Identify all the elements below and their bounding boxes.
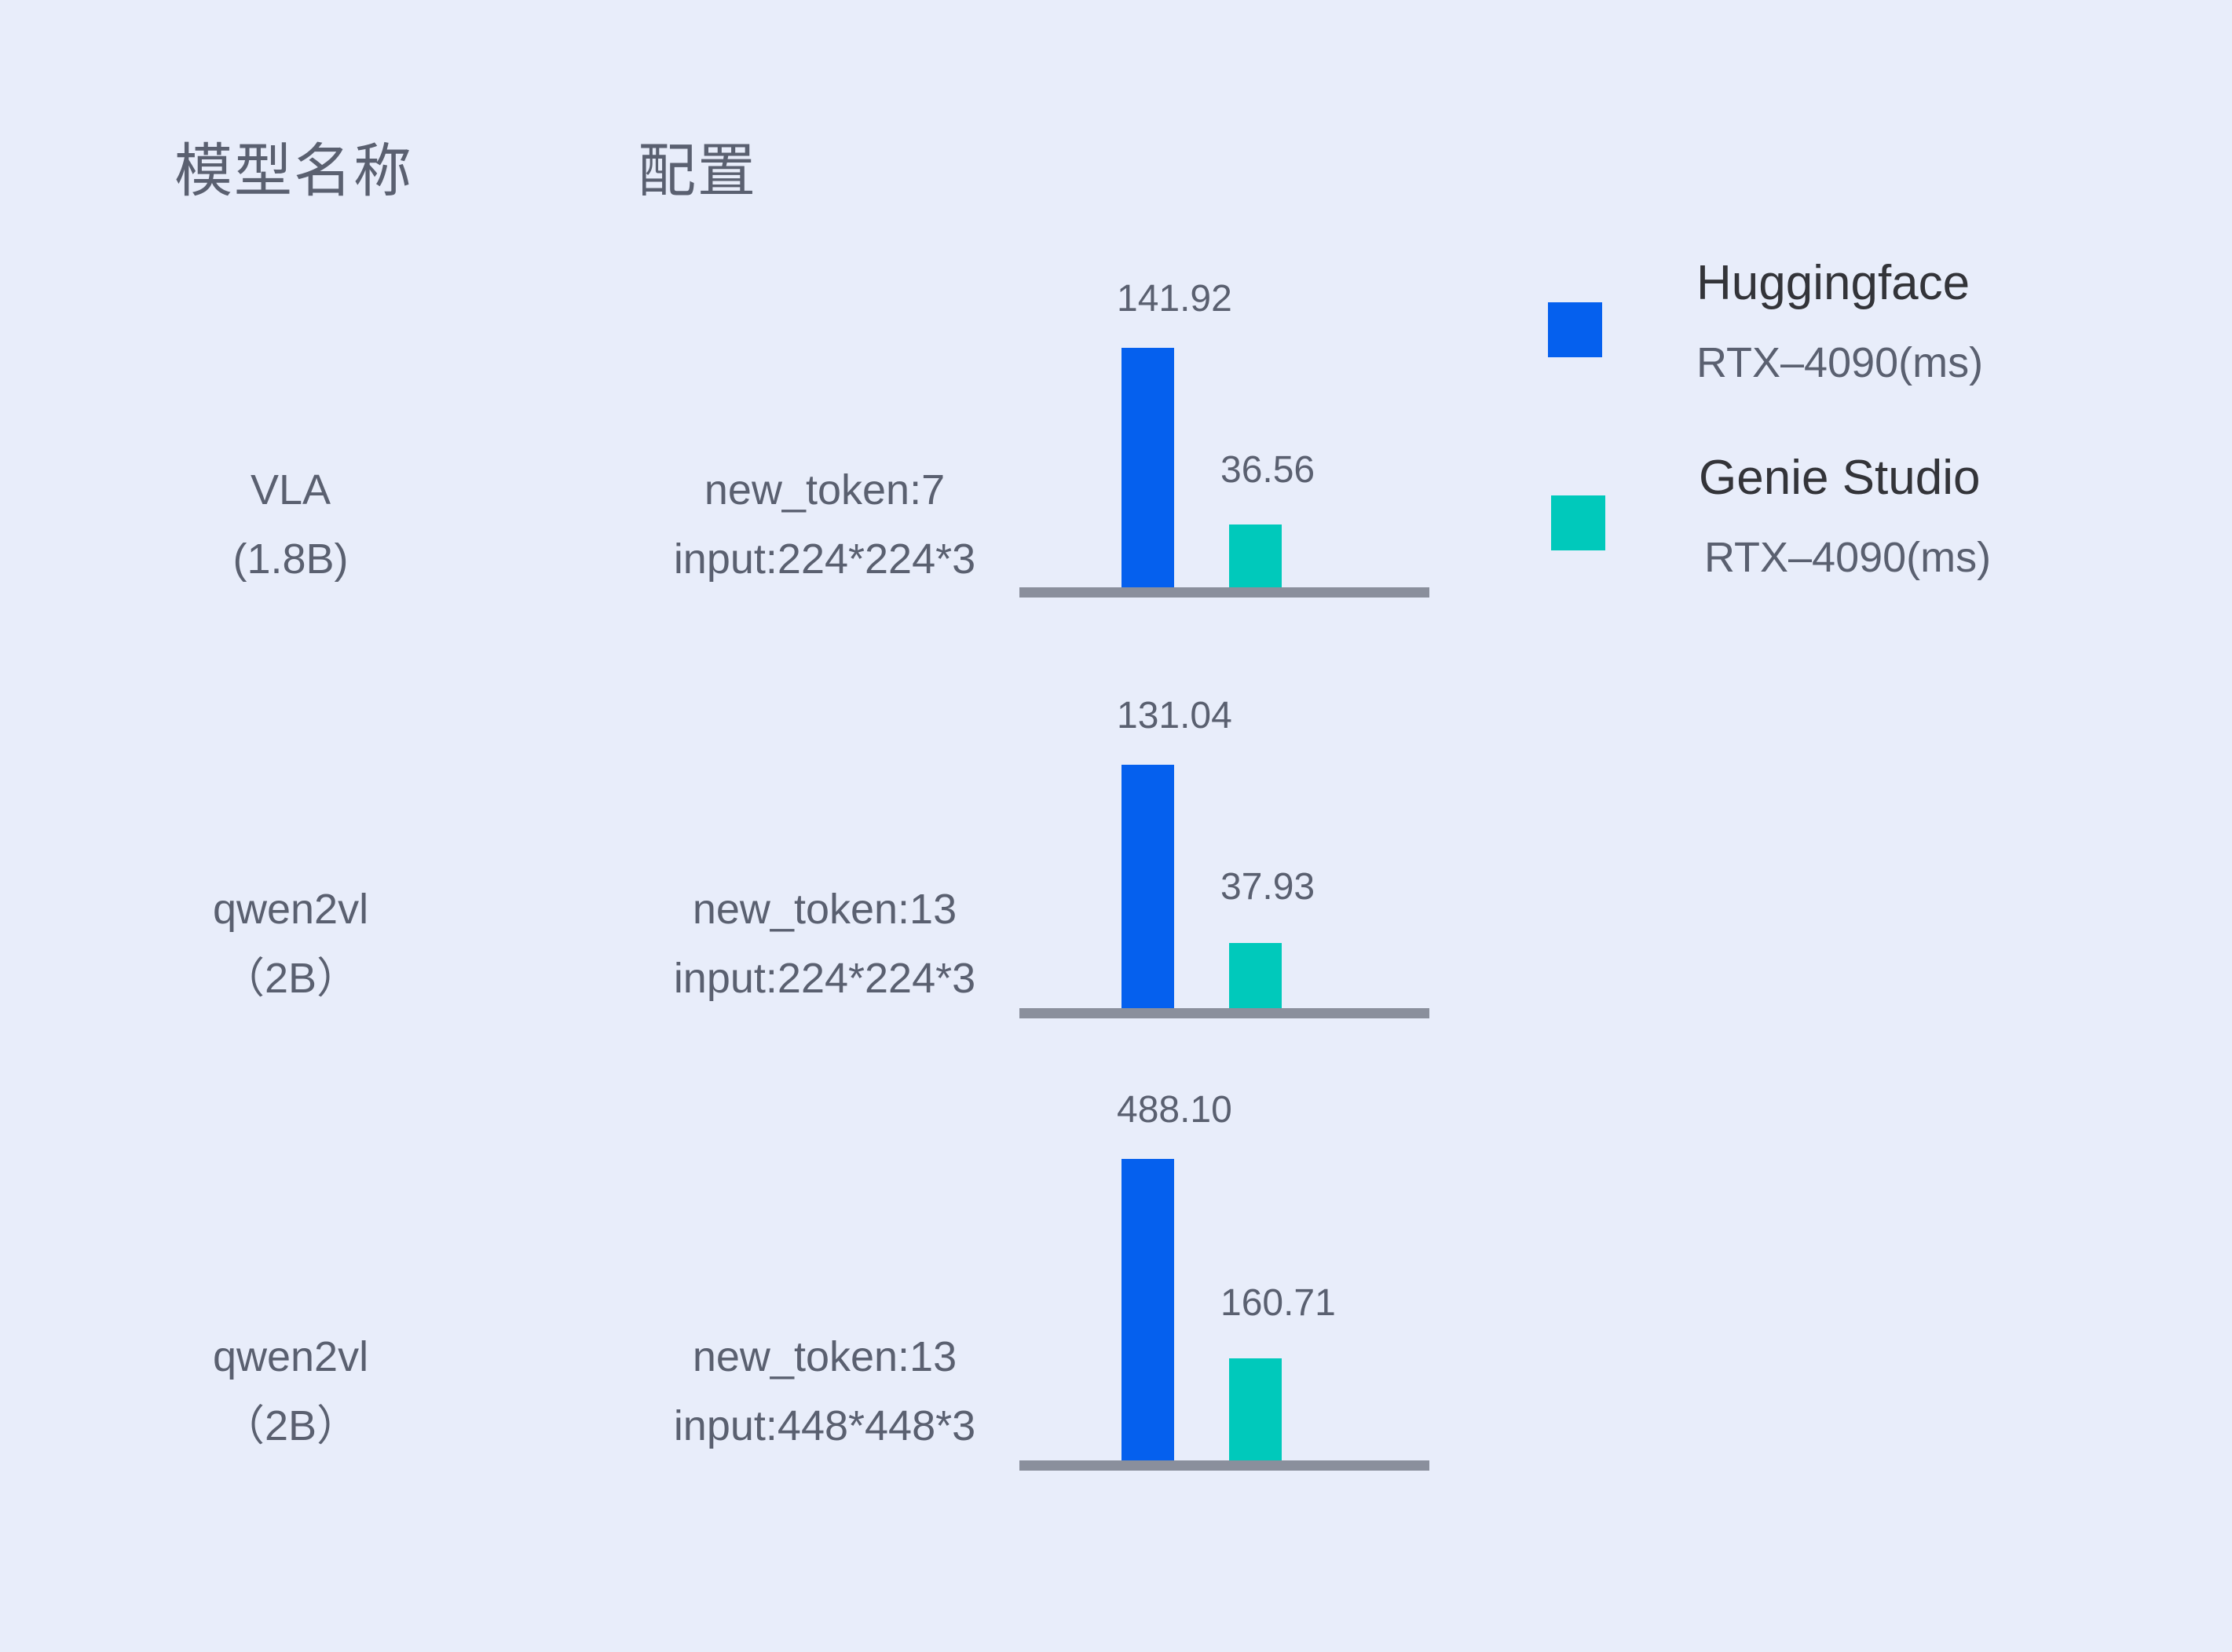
bar-huggingface[interactable]: [1121, 348, 1174, 587]
model-name-line1: qwen2vl: [134, 875, 448, 944]
bar-panel: 141.92 36.56: [1019, 338, 1429, 620]
panel-baseline: [1019, 587, 1429, 598]
model-name-line2: (1.8B): [134, 524, 448, 594]
model-name-line2: （2B）: [134, 1391, 448, 1460]
column-header-model-name: 模型名称: [174, 124, 413, 208]
bar-value-label-genie-studio: 37.93: [1220, 868, 1315, 906]
bar-huggingface[interactable]: [1121, 1159, 1174, 1465]
panel-baseline: [1019, 1460, 1429, 1471]
column-header-config: 配置: [638, 124, 757, 208]
bar-genie-studio[interactable]: [1229, 943, 1282, 1008]
model-name-line1: qwen2vl: [134, 1322, 448, 1391]
legend-title: Genie Studio: [1699, 454, 1980, 503]
cell-model-name: VLA (1.8B): [134, 455, 448, 594]
legend-subtitle: RTX–4090(ms): [1704, 536, 1991, 579]
legend-title: Huggingface: [1696, 259, 1970, 308]
model-name-line1: VLA: [134, 455, 448, 524]
bar-panel: 488.10 160.71: [1019, 1179, 1429, 1493]
legend-subtitle: RTX–4090(ms): [1696, 342, 1983, 384]
cell-model-name: qwen2vl （2B）: [134, 875, 448, 1013]
model-name-line2: （2B）: [134, 944, 448, 1013]
chart-canvas: 模型名称 配置 VLA (1.8B) new_token:7 input:224…: [0, 0, 2232, 1652]
bar-value-label-huggingface: 141.92: [1117, 280, 1232, 318]
bar-value-label-huggingface: 131.04: [1117, 697, 1232, 735]
bar-huggingface[interactable]: [1121, 765, 1174, 1008]
bar-genie-studio[interactable]: [1229, 524, 1282, 587]
genie-studio-color-swatch: [1551, 495, 1605, 550]
panel-baseline: [1019, 1008, 1429, 1018]
bar-genie-studio[interactable]: [1229, 1358, 1282, 1460]
table-row: qwen2vl （2B） new_token:13 input:224*224*…: [0, 758, 2232, 1041]
bar-value-label-huggingface: 488.10: [1117, 1091, 1232, 1129]
bar-value-label-genie-studio: 160.71: [1220, 1285, 1336, 1322]
bar-panel: 131.04 37.93: [1019, 758, 1429, 1041]
cell-model-name: qwen2vl （2B）: [134, 1322, 448, 1460]
table-row: qwen2vl （2B） new_token:13 input:448*448*…: [0, 1179, 2232, 1493]
bar-value-label-genie-studio: 36.56: [1220, 451, 1315, 489]
huggingface-color-swatch: [1548, 302, 1602, 357]
